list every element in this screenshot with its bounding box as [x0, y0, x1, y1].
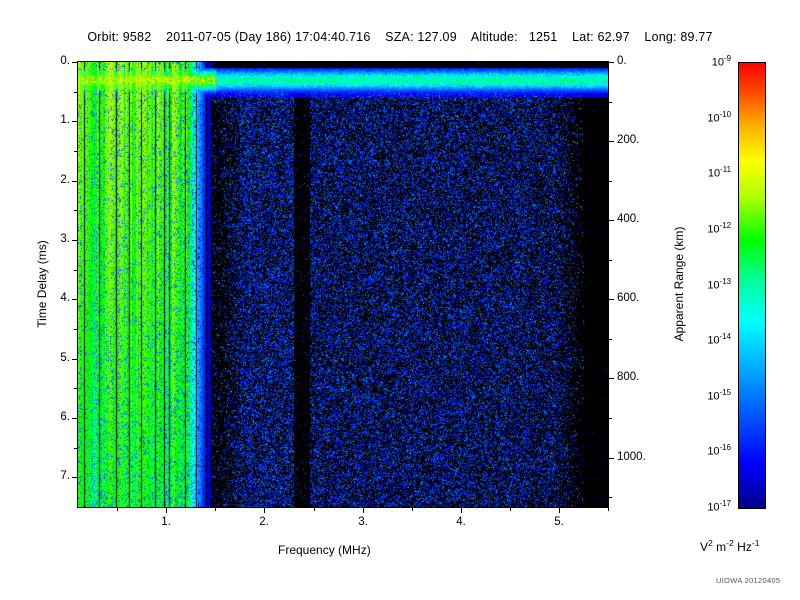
y2-minor-tick: [608, 497, 612, 498]
y2-tick: [608, 62, 614, 63]
y-minor-tick: [74, 151, 78, 152]
y-tick-label: 2.: [44, 174, 70, 186]
y-tick: [72, 240, 78, 241]
y2-minor-tick: [608, 260, 612, 261]
y-tick: [72, 121, 78, 122]
colorbar-tick-label: 10-16: [691, 443, 731, 458]
y-minor-tick: [74, 448, 78, 449]
x-minor-tick: [608, 507, 609, 511]
colorbar-tick-label: 10-13: [691, 277, 731, 292]
colorbar: [738, 62, 766, 509]
y-tick: [72, 477, 78, 478]
y-tick: [72, 181, 78, 182]
y2-axis-title: Apparent Range (km): [672, 204, 686, 364]
x-tick: [166, 507, 167, 513]
unit-v: V: [700, 540, 708, 554]
y2-minor-tick: [608, 418, 612, 419]
x-tick-label: 1.: [154, 516, 178, 528]
y2-tick: [608, 220, 614, 221]
y-tick-label: 5.: [44, 352, 70, 364]
unit-hz-exp: -1: [752, 538, 760, 548]
x-tick-label: 5.: [547, 516, 571, 528]
x-tick-label: 4.: [449, 516, 473, 528]
x-tick: [559, 507, 560, 513]
y-minor-tick: [74, 388, 78, 389]
y2-tick: [608, 299, 614, 300]
y-minor-tick: [74, 210, 78, 211]
y-tick-label: 1.: [44, 114, 70, 126]
y2-tick-label: 600.: [617, 292, 657, 304]
x-axis-title: Frequency (MHz): [278, 543, 371, 557]
axis-top: [77, 61, 609, 62]
y-tick-label: 7.: [44, 470, 70, 482]
y-tick-label: 6.: [44, 411, 70, 423]
axis-bottom: [77, 507, 609, 508]
y2-tick-label: 1000.: [617, 451, 657, 463]
y2-tick-label: 800.: [617, 371, 657, 383]
unit-hz: Hz: [734, 540, 752, 554]
colorbar-unit-label: V2 m-2 Hz-1: [700, 538, 760, 554]
y-tick-label: 0.: [44, 55, 70, 67]
x-tick: [363, 507, 364, 513]
colorbar-tick-label: 10-15: [691, 388, 731, 403]
colorbar-tick-label: 10-17: [691, 499, 731, 514]
ionogram-heatmap: [78, 62, 608, 507]
x-minor-tick: [215, 507, 216, 511]
x-tick: [264, 507, 265, 513]
credit-text: UIOWA 20120405: [716, 576, 780, 585]
y-axis-title: Time Delay (ms): [35, 224, 49, 344]
y-tick: [72, 418, 78, 419]
y-tick: [72, 359, 78, 360]
y-minor-tick: [74, 329, 78, 330]
x-minor-tick: [412, 507, 413, 511]
colorbar-canvas: [739, 63, 765, 508]
unit-m: m: [713, 540, 726, 554]
y-minor-tick: [74, 92, 78, 93]
heatmap-canvas: [78, 62, 608, 507]
axis-right: [608, 61, 609, 508]
x-minor-tick: [510, 507, 511, 511]
y2-minor-tick: [608, 339, 612, 340]
y2-tick: [608, 458, 614, 459]
y2-tick: [608, 141, 614, 142]
axis-left: [77, 61, 78, 508]
y2-tick-label: 0.: [617, 55, 657, 67]
y2-tick: [608, 378, 614, 379]
y2-minor-tick: [608, 102, 612, 103]
y2-tick-label: 200.: [617, 134, 657, 146]
x-minor-tick: [314, 507, 315, 511]
y-tick: [72, 62, 78, 63]
y2-tick-label: 400.: [617, 213, 657, 225]
x-tick: [461, 507, 462, 513]
colorbar-tick-label: 10-12: [691, 221, 731, 236]
unit-m-exp: -2: [726, 538, 734, 548]
colorbar-tick-label: 10-11: [691, 165, 731, 180]
x-tick-label: 3.: [351, 516, 375, 528]
x-tick-label: 2.: [252, 516, 276, 528]
colorbar-tick-label: 10-10: [691, 110, 731, 125]
y2-minor-tick: [608, 181, 612, 182]
colorbar-tick-label: 10-9: [691, 54, 731, 69]
x-minor-tick: [117, 507, 118, 511]
y-minor-tick: [74, 270, 78, 271]
colorbar-tick-label: 10-14: [691, 332, 731, 347]
page-header: Orbit: 9582 2011-07-05 (Day 186) 17:04:4…: [0, 30, 800, 44]
y-tick: [72, 299, 78, 300]
